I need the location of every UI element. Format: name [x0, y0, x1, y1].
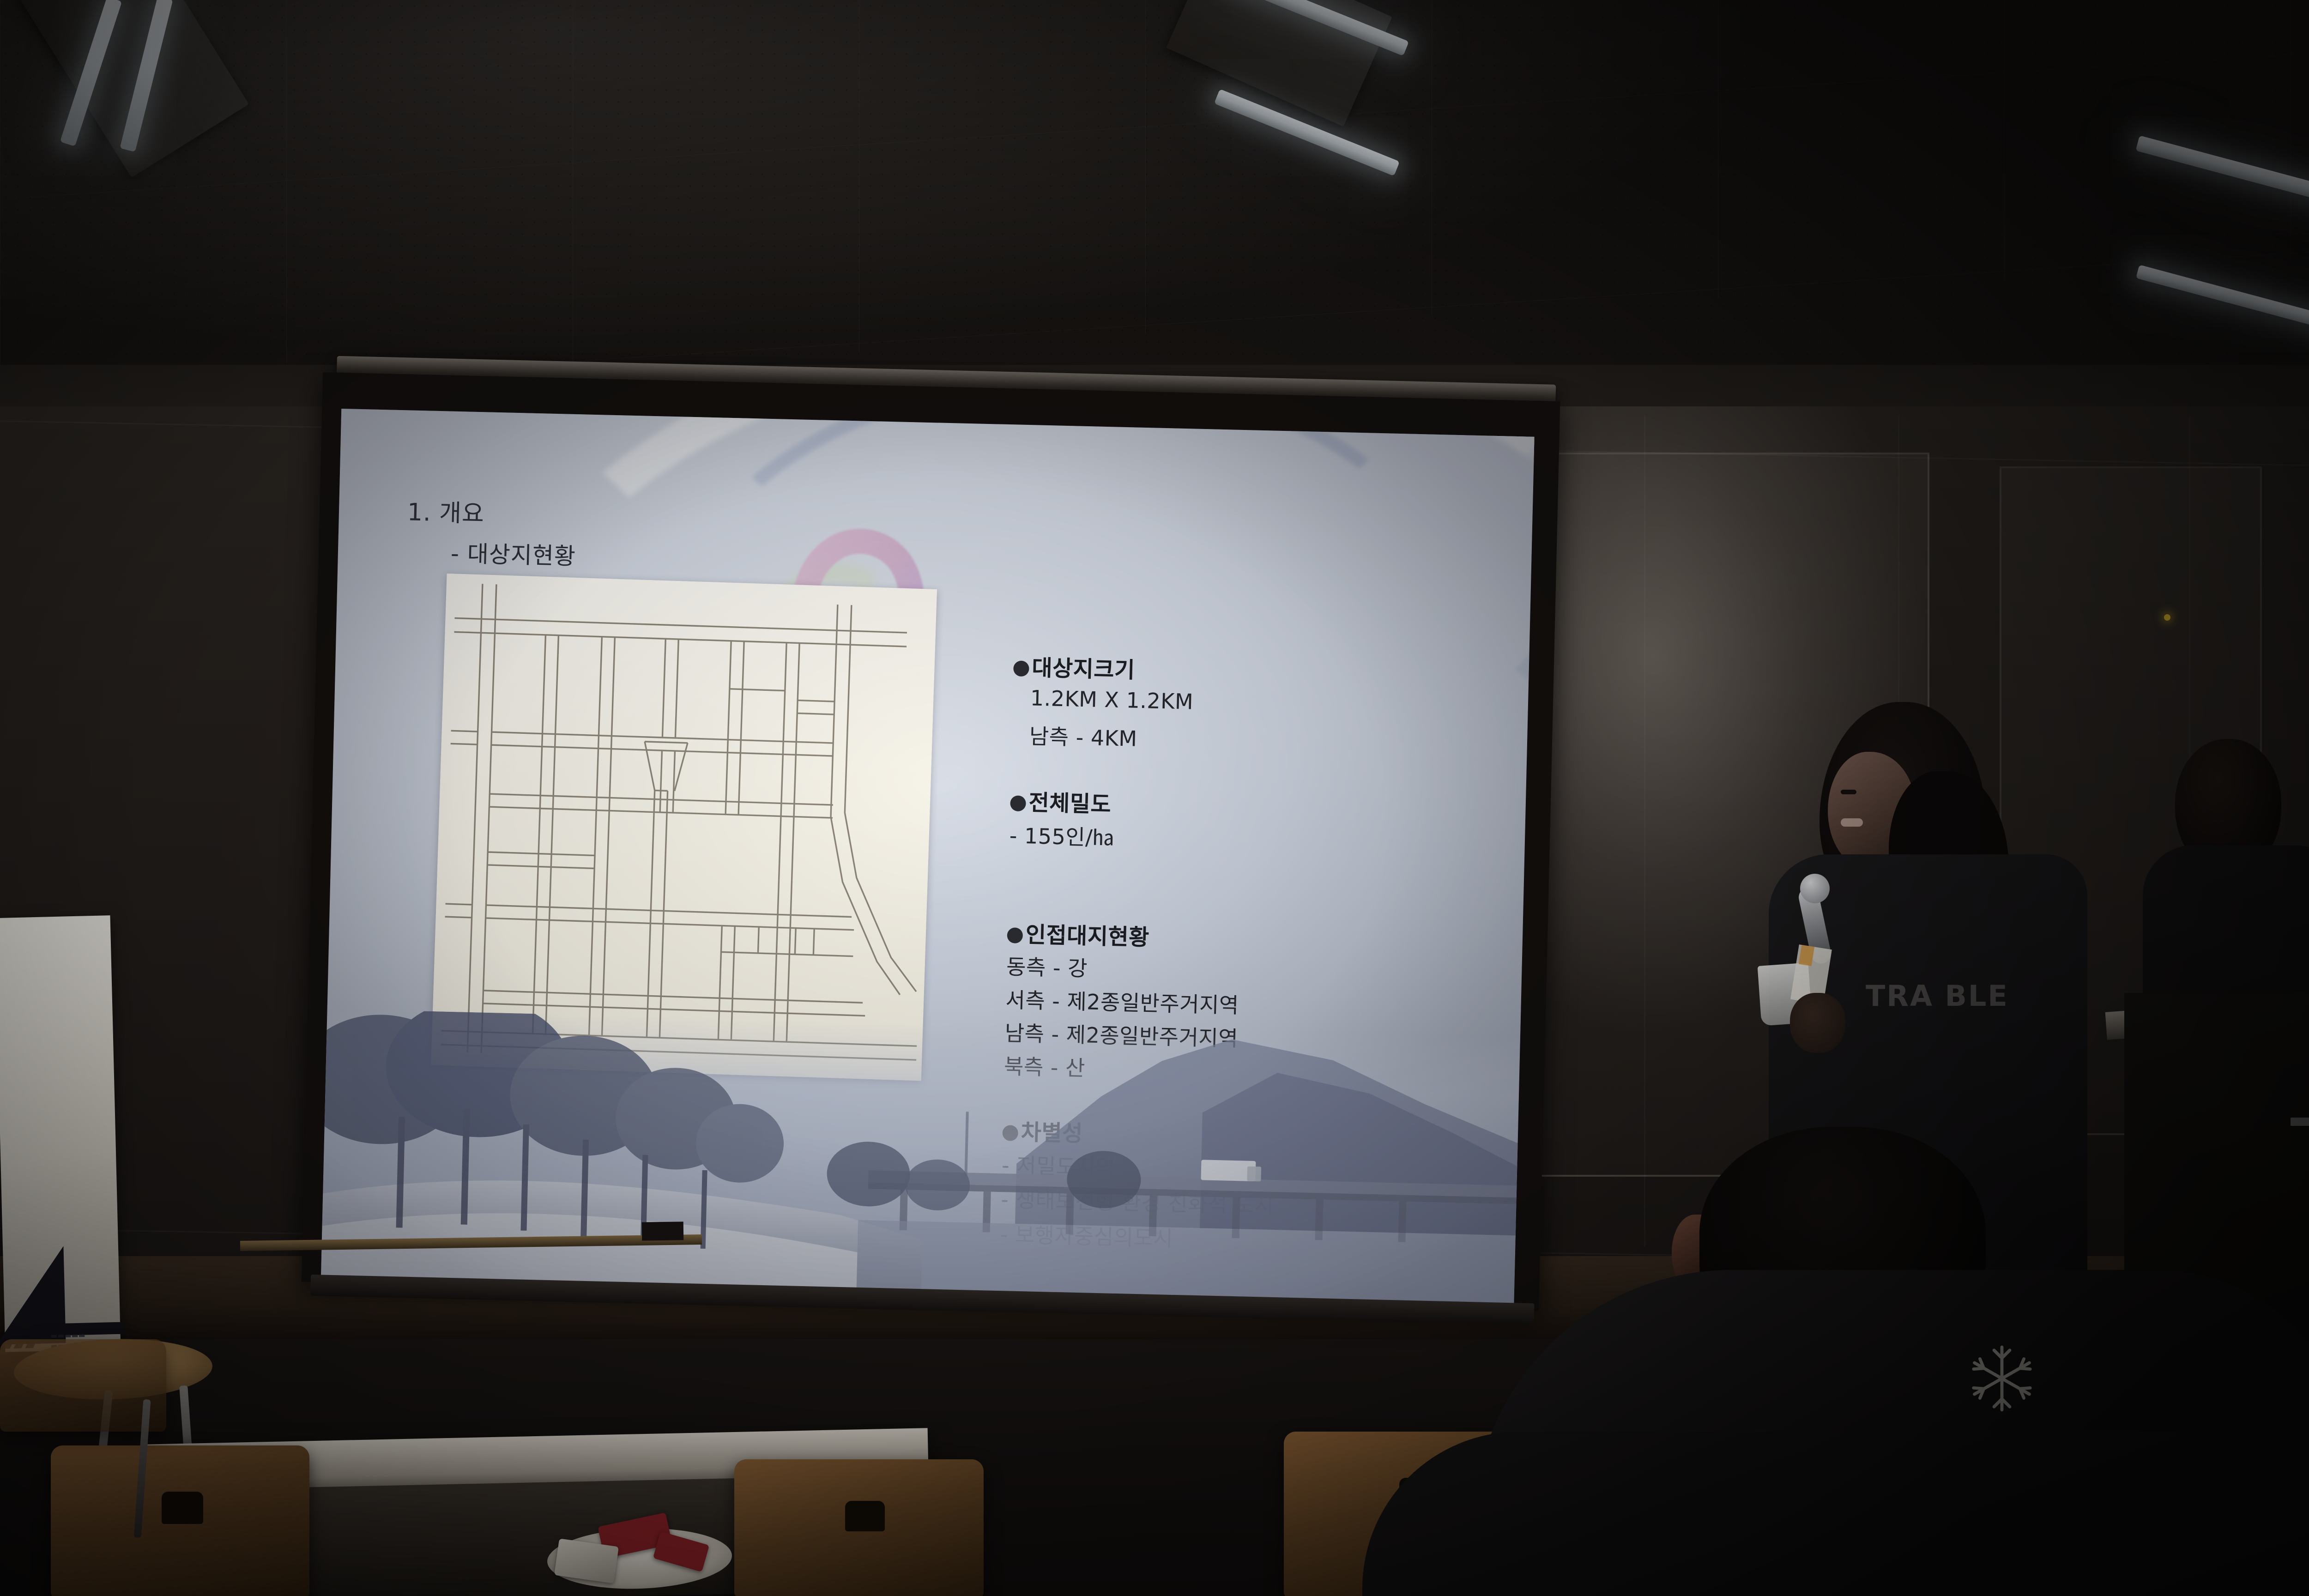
lectern-label: [2291, 1118, 2309, 1126]
slide-subtitle: - 대상지현황: [450, 535, 576, 571]
site-plan-diagram: [431, 574, 937, 1081]
bullet-marker-icon: [1010, 795, 1026, 811]
bullet-2-line-1: - 155인/㏊: [1009, 819, 1114, 852]
slide-bullet-column: 대상지크기 1.2KM X 1.2KM 남측 - 4KM 전체밀도 - 155인…: [1014, 649, 1480, 660]
bullet-3-head: 인접대지현황: [1007, 916, 1150, 951]
bullet-3-line-1: 동측 - 강: [1006, 950, 1088, 982]
bullet-1-head: 대상지크기: [1013, 649, 1136, 684]
indicator-led: [2164, 614, 2170, 621]
bullet-marker-icon: [1007, 927, 1023, 943]
chair-back-left: [0, 1339, 166, 1432]
slide-title: 1. 개요: [407, 492, 485, 529]
presenter-eye: [1841, 790, 1856, 794]
presenter-shirt-text: TRA BLE: [1866, 979, 2027, 1011]
chair-left-handle-cutout: [162, 1492, 203, 1524]
bullet-3-line-2: 서측 - 제2종일반주거지역: [1005, 983, 1239, 1019]
snowflake-logo-icon: [1963, 1339, 2041, 1418]
bullet-1-line-2: 남측 - 4KM: [1029, 719, 1137, 752]
shelf-object: [642, 1221, 684, 1240]
foreground-person-shoulders: [1362, 1432, 2309, 1596]
lecture-room-photo: 1. 개요 - 대상지현황: [0, 0, 2309, 1596]
foreground-person-hooded: [1335, 1155, 2309, 1596]
microphone-head-icon: [1800, 874, 1830, 903]
bullet-2-head: 전체밀도: [1010, 784, 1112, 818]
ceiling: [0, 0, 2309, 406]
chair-center-handle-cutout: [845, 1501, 885, 1531]
presenter-mouth: [1841, 818, 1863, 827]
bullet-1-line-1: 1.2KM X 1.2KM: [1030, 685, 1193, 714]
bullet-marker-icon: [1013, 660, 1029, 677]
presenter-hand: [1790, 993, 1845, 1053]
